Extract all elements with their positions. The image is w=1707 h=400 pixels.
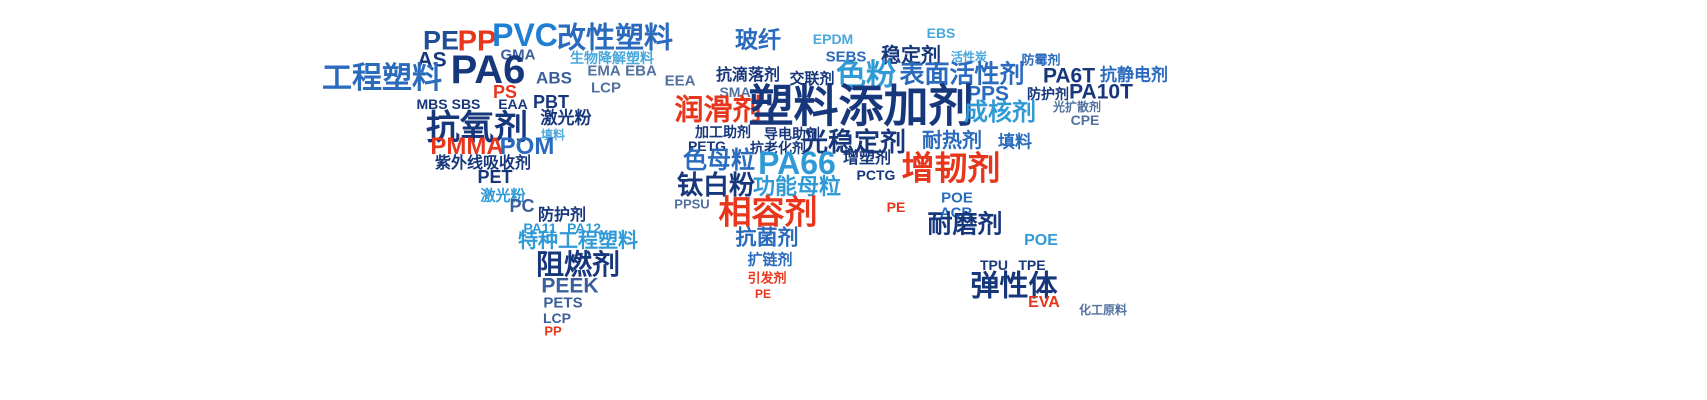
word-cloud-term[interactable]: 引发剂 (747, 272, 786, 285)
word-cloud-term[interactable]: 增塑剂 (843, 151, 891, 167)
word-cloud-term[interactable]: EVA (1028, 295, 1060, 311)
word-cloud-term[interactable]: PE (755, 288, 771, 300)
word-cloud-term[interactable]: 耐磨剂 (927, 213, 1002, 238)
word-cloud-term[interactable]: EMA (587, 64, 620, 79)
word-cloud-term[interactable]: 加工助剂 (695, 125, 751, 139)
word-cloud-term[interactable]: LCP (591, 81, 621, 96)
word-cloud-term[interactable]: PEEK (541, 276, 598, 297)
word-cloud-term[interactable]: 抗菌剂 (736, 228, 799, 249)
word-cloud-term[interactable]: POE (1024, 233, 1058, 249)
word-cloud-term[interactable]: 扩链剂 (747, 253, 792, 268)
word-cloud-term[interactable]: PPSU (674, 198, 709, 211)
word-cloud-canvas: PEPPPVCGMA改性塑料玻纤EPDMEBSASPA6生物降解塑料SEBS稳定… (0, 0, 1707, 400)
word-cloud-term[interactable]: CPE (1071, 113, 1100, 127)
word-cloud-term[interactable]: EPDM (813, 32, 853, 46)
word-cloud-term[interactable]: 填料 (998, 134, 1032, 151)
word-cloud-term[interactable]: 成核剂 (964, 101, 1036, 125)
word-cloud-term[interactable]: EBS (927, 26, 956, 40)
word-cloud-term[interactable]: PET (477, 168, 512, 186)
word-cloud-term[interactable]: 相容剂 (719, 196, 818, 229)
word-cloud-term[interactable]: PCTG (857, 168, 896, 182)
word-cloud-term[interactable]: 耐热剂 (922, 131, 982, 151)
word-cloud-term[interactable]: EEA (665, 74, 696, 89)
word-cloud-term[interactable]: PE (887, 200, 906, 214)
word-cloud-term[interactable]: PC (509, 197, 534, 215)
word-cloud-term[interactable]: 增韧剂 (902, 152, 1001, 185)
word-cloud-term[interactable]: PP (544, 325, 561, 338)
word-cloud-term[interactable]: PETS (543, 296, 582, 311)
word-cloud-term[interactable]: ABS (536, 70, 572, 87)
word-cloud-term[interactable]: 塑料添加剂 (748, 84, 973, 129)
word-cloud-term[interactable]: POE (941, 191, 973, 206)
word-cloud-term[interactable]: 化工原料 (1079, 304, 1127, 316)
word-cloud-term[interactable]: EBA (625, 64, 657, 79)
word-cloud-term[interactable]: 工程塑料 (322, 64, 442, 94)
word-cloud-term[interactable]: 玻纤 (735, 29, 781, 52)
word-cloud-term[interactable]: 特种工程塑料 (518, 231, 638, 251)
word-cloud-term[interactable]: 激光粉 (541, 110, 592, 127)
